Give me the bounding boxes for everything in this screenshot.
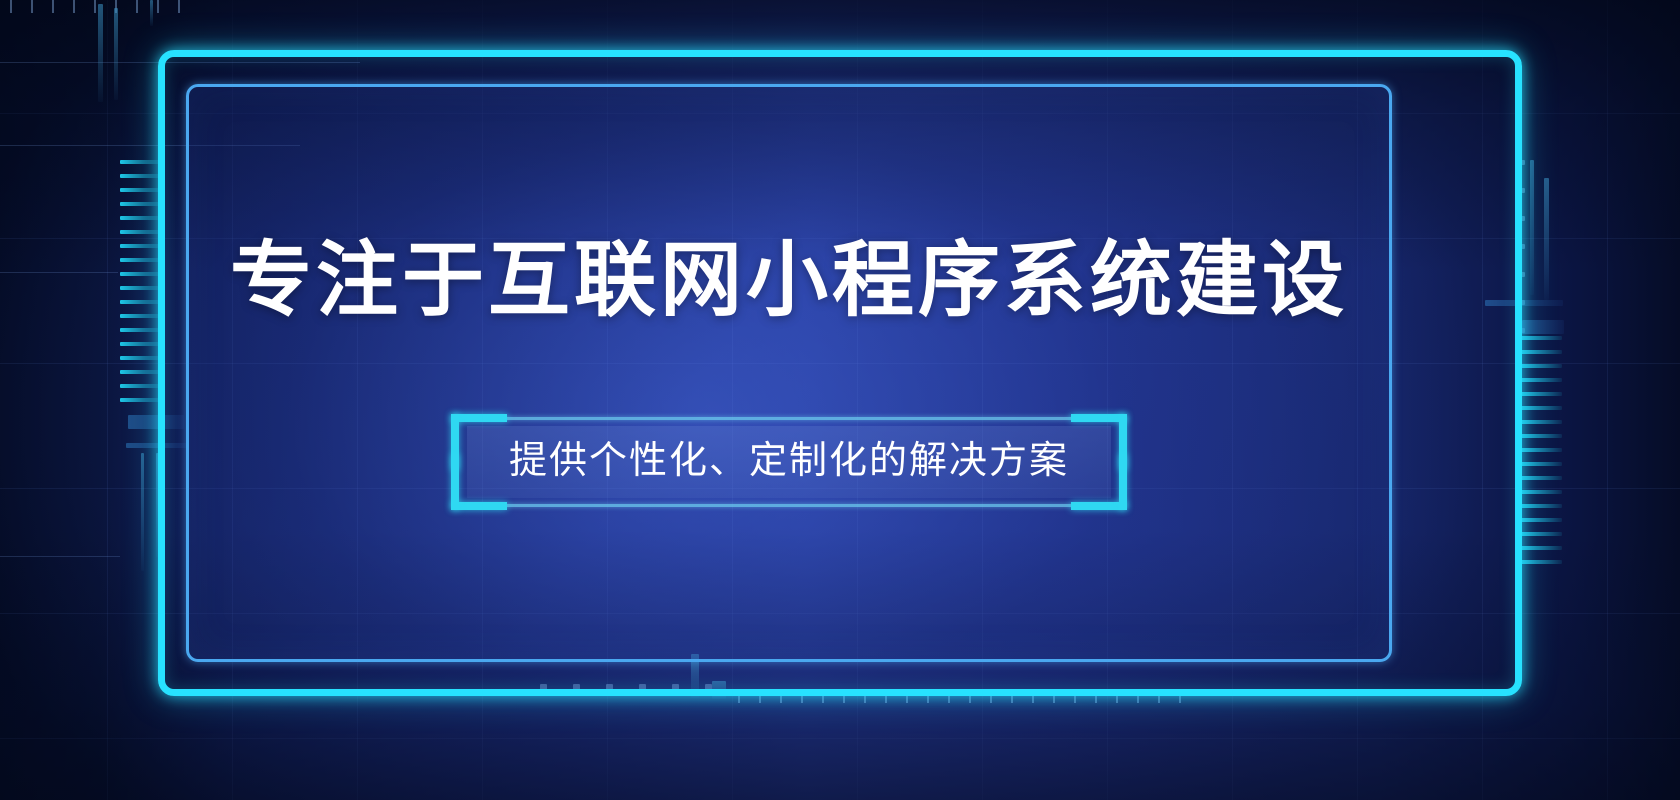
top-left-tick-ruler [10,0,180,13]
decor-vbar-tr-2 [1544,178,1549,300]
banner-headline: 专注于互联网小程序系统建设 [230,240,1348,322]
left-tech-ladder [120,160,160,402]
grid-hairline-bottom [0,556,120,557]
decor-vbar-tl-1 [98,4,103,102]
left-decor-vbar-1 [141,453,144,571]
bracket-rail-top [503,417,1075,420]
decor-vbar-tl-3 [150,0,153,26]
subtitle-bracket-box: 提供个性化、定制化的解决方案 [455,418,1123,506]
banner-subtitle: 提供个性化、定制化的解决方案 [509,440,1069,484]
decor-vbar-tr-1 [1530,160,1534,295]
grid-hairline-lower [0,272,118,273]
bracket-rail-bottom [503,504,1075,507]
right-decor-slab-2 [1522,320,1564,334]
decor-vbar-tl-2 [114,8,118,100]
right-tech-ladder [1518,336,1562,564]
banner-content: 专注于互联网小程序系统建设 提供个性化、定制化的解决方案 [186,84,1392,662]
hero-banner: 专注于互联网小程序系统建设 提供个性化、定制化的解决方案 [0,0,1680,800]
